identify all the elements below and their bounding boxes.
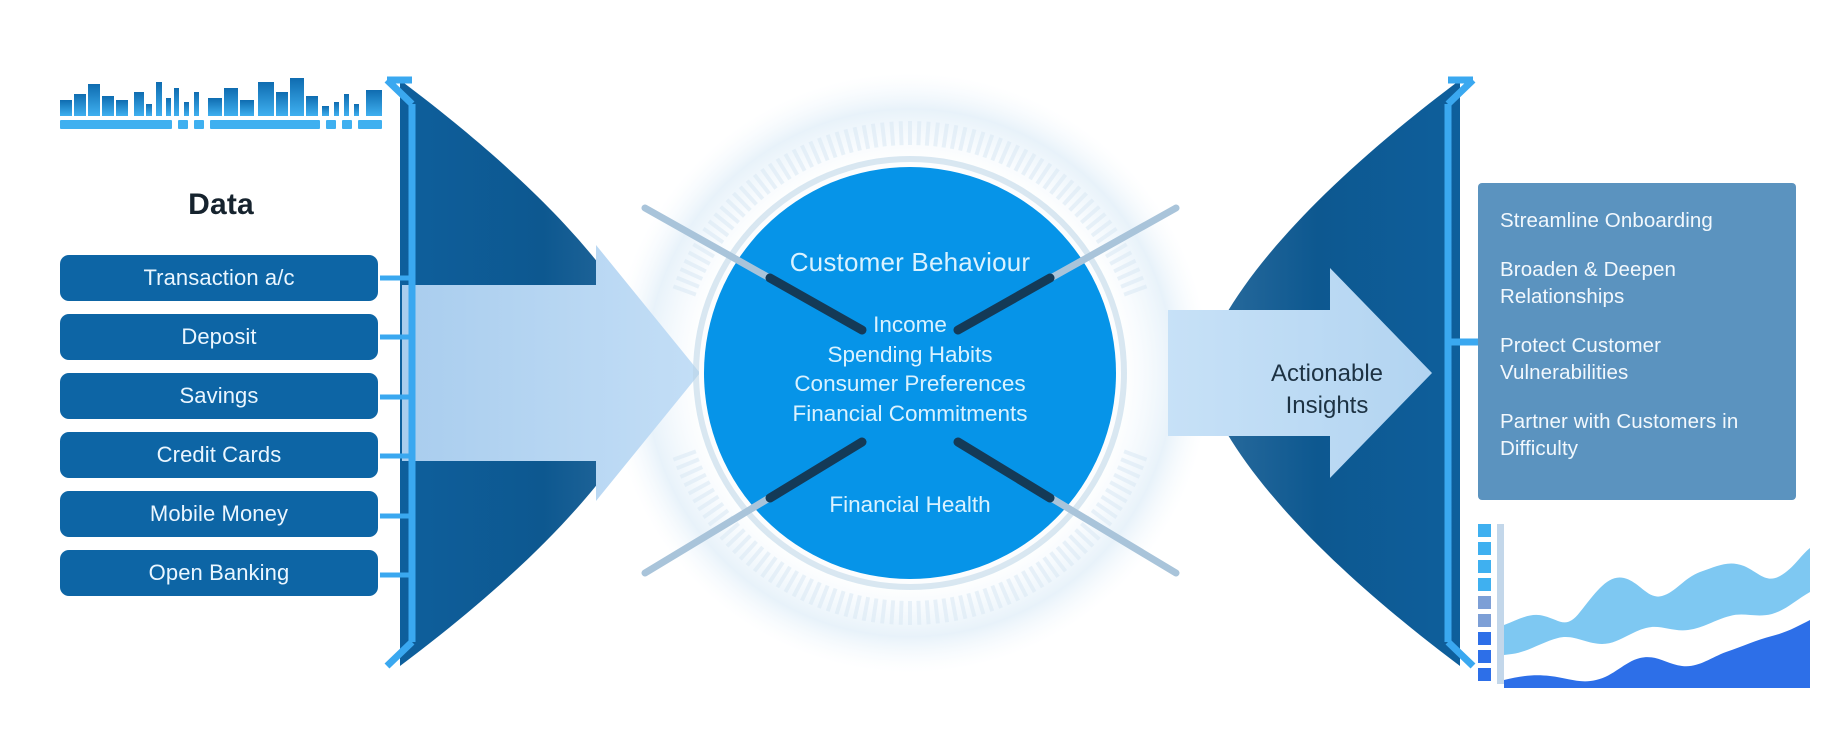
circle-attribute: Income	[700, 310, 1120, 340]
data-source-item-credit-cards[interactable]: Credit Cards	[60, 432, 378, 478]
infographic-canvas: Data Transaction a/c Deposit Savings Cre…	[0, 0, 1844, 747]
insight-item-broaden-deepen-relationships[interactable]: Broaden & Deepen Relationships	[1500, 256, 1778, 310]
data-source-label: Credit Cards	[157, 442, 282, 468]
data-column: Data Transaction a/c Deposit Savings Cre…	[60, 78, 380, 678]
insight-item-protect-customer-vulnerabilities[interactable]: Protect Customer Vulnerabilities	[1500, 332, 1778, 386]
circle-footer-label: Financial Health	[700, 492, 1120, 518]
circle-attribute: Consumer Preferences	[700, 369, 1120, 399]
chart-y-axis-marker	[1478, 524, 1491, 681]
data-source-label: Transaction a/c	[143, 265, 294, 291]
growth-area-chart	[1478, 524, 1810, 688]
data-source-item-transaction[interactable]: Transaction a/c	[60, 255, 378, 301]
insight-item-partner-with-customers-in-difficulty[interactable]: Partner with Customers in Difficulty	[1500, 408, 1778, 462]
data-source-item-mobile-money[interactable]: Mobile Money	[60, 491, 378, 537]
circle-title: Customer Behaviour	[700, 247, 1120, 278]
data-source-item-savings[interactable]: Savings	[60, 373, 378, 419]
circle-attribute-list: Income Spending Habits Consumer Preferen…	[700, 310, 1120, 428]
data-source-list: Transaction a/c Deposit Savings Credit C…	[60, 255, 378, 609]
data-source-item-deposit[interactable]: Deposit	[60, 314, 378, 360]
actionable-insights-label: Actionable Insights	[1232, 358, 1422, 422]
page-title: Data	[60, 188, 382, 222]
insights-list: Streamline Onboarding Broaden & Deepen R…	[1500, 207, 1778, 484]
circle-attribute: Spending Habits	[700, 340, 1120, 370]
insight-item-streamline-onboarding[interactable]: Streamline Onboarding	[1500, 207, 1778, 234]
actionable-insights-line1: Actionable	[1232, 358, 1422, 390]
data-source-label: Open Banking	[149, 560, 290, 586]
data-source-label: Mobile Money	[150, 501, 288, 527]
data-source-label: Deposit	[181, 324, 256, 350]
data-source-label: Savings	[180, 383, 259, 409]
insights-panel: Streamline Onboarding Broaden & Deepen R…	[1478, 183, 1796, 500]
actionable-insights-line2: Insights	[1232, 390, 1422, 422]
circle-attribute: Financial Commitments	[700, 399, 1120, 429]
data-source-item-open-banking[interactable]: Open Banking	[60, 550, 378, 596]
chart-axis-line	[1497, 524, 1504, 684]
